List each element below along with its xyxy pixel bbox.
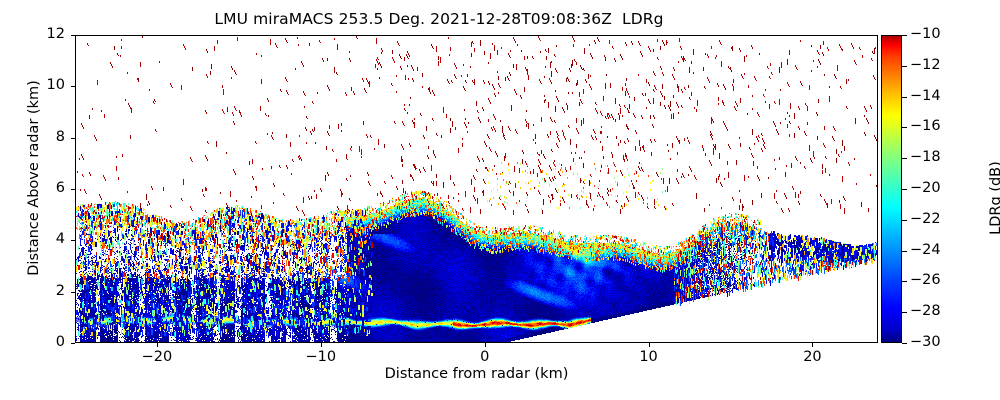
- plot-title: LMU miraMACS 253.5 Deg. 2021-12-28T09:08…: [0, 10, 878, 28]
- x-tick-label: −20: [122, 349, 192, 365]
- colorbar-tick-mark: [902, 66, 907, 67]
- colorbar-tick-mark: [902, 97, 907, 98]
- colorbar-tick-label: −10: [910, 26, 941, 42]
- y-tick-label: 0: [25, 334, 65, 350]
- colorbar-tick-mark: [902, 281, 907, 282]
- x-axis-label: Distance from radar (km): [0, 366, 953, 382]
- y-tick-mark: [71, 86, 75, 87]
- radar-data-field: [76, 36, 877, 342]
- colorbar-tick-label: −12: [910, 57, 941, 73]
- y-tick-mark: [71, 189, 75, 190]
- colorbar-tick-label: −14: [910, 88, 941, 104]
- y-tick-mark: [71, 343, 75, 344]
- colorbar-tick-label: −24: [910, 242, 941, 258]
- colorbar-tick-label: −28: [910, 303, 941, 319]
- colorbar-tick-mark: [902, 127, 907, 128]
- x-tick-label: 20: [777, 349, 847, 365]
- y-axis-label: Distance Above radar (km): [26, 28, 42, 328]
- colorbar-tick-label: −20: [910, 180, 941, 196]
- colorbar-gradient: [881, 35, 902, 343]
- ldrg-heatmap-canvas: [76, 36, 877, 342]
- y-tick-mark: [71, 138, 75, 139]
- colorbar-tick-label: −18: [910, 149, 941, 165]
- rhi-plot-axes: [75, 35, 878, 343]
- figure-canvas: LMU miraMACS 253.5 Deg. 2021-12-28T09:08…: [0, 0, 1000, 400]
- x-tick-mark: [321, 343, 322, 347]
- x-tick-mark: [157, 343, 158, 347]
- colorbar-tick-label: −16: [910, 118, 941, 134]
- colorbar-tick-label: −30: [910, 334, 941, 350]
- y-tick-mark: [71, 292, 75, 293]
- x-tick-mark: [812, 343, 813, 347]
- colorbar-tick-mark: [902, 35, 907, 36]
- colorbar-tick-label: −22: [910, 211, 941, 227]
- colorbar-tick-label: −26: [910, 272, 941, 288]
- colorbar-tick-mark: [902, 251, 907, 252]
- colorbar-tick-mark: [902, 343, 907, 344]
- colorbar-tick-mark: [902, 312, 907, 313]
- colorbar-tick-mark: [902, 158, 907, 159]
- colorbar-tick-mark: [902, 220, 907, 221]
- colorbar-label: LDRg (dB): [988, 78, 1000, 318]
- colorbar-tick-mark: [902, 189, 907, 190]
- y-tick-mark: [71, 240, 75, 241]
- x-tick-mark: [485, 343, 486, 347]
- x-tick-label: −10: [286, 349, 356, 365]
- x-tick-label: 10: [614, 349, 684, 365]
- x-tick-label: 0: [450, 349, 520, 365]
- y-tick-mark: [71, 35, 75, 36]
- x-tick-mark: [649, 343, 650, 347]
